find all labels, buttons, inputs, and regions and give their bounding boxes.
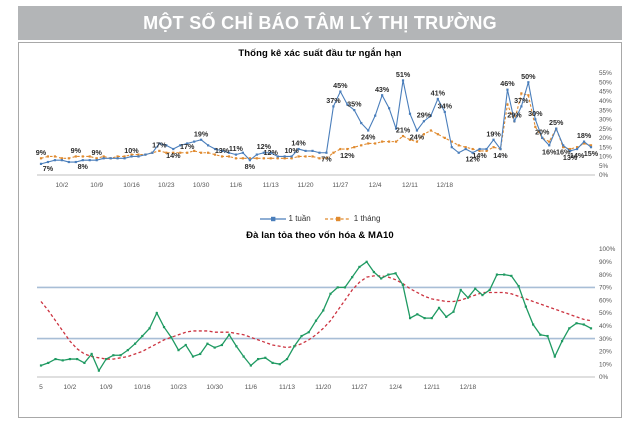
chart-1-series-1-tuan-marker <box>583 141 585 143</box>
chart-1-x-tick: 11/13 <box>263 182 279 189</box>
chart-2-series-breadth-marker <box>228 334 230 336</box>
chart-1-series-1-thang-marker <box>200 152 202 154</box>
legend-swatch-solid <box>260 215 286 223</box>
chart-1-series-1-tuan-marker <box>291 155 293 157</box>
chart-1-series-1-tuan-marker <box>89 159 91 161</box>
chart-1-data-label: 13% <box>215 146 230 155</box>
content-frame: Thống kê xác suất đầu tư ngắn hạn 0%5%10… <box>18 42 622 418</box>
chart-1-series-1-tuan-marker <box>144 154 146 156</box>
chart-1-series-1-thang-marker <box>472 148 474 150</box>
chart-2-series-breadth-marker <box>583 323 585 325</box>
chart-1-data-label: 8% <box>78 162 89 171</box>
chart-1-series-1-tuan-marker <box>256 154 258 156</box>
chart-2-series-breadth-marker <box>539 334 541 336</box>
chart-1-x-tick: 10/30 <box>193 182 210 189</box>
chart-1-data-label: 41% <box>431 88 446 97</box>
chart-1-x-tick: 12/11 <box>402 182 418 189</box>
chart-1-series-1-thang-marker <box>444 137 446 139</box>
chart-1-series-1-tuan-marker <box>284 155 286 157</box>
legend-item-1-thang: 1 tháng <box>325 214 381 223</box>
chart-2-series-breadth-marker <box>148 327 150 329</box>
legend-label-1-thang: 1 tháng <box>354 214 381 223</box>
chart-1-series-1-thang-marker <box>332 152 334 154</box>
chart-2-x-tick: 11/6 <box>245 384 258 391</box>
slide: MỘT SỐ CHỈ BÁO TÂM LÝ THỊ TRƯỜNG Thống k… <box>0 0 640 426</box>
chart-1-series-1-tuan-marker <box>388 107 390 109</box>
chart-2-y-tick: 70% <box>599 285 612 292</box>
chart-1-data-label: 14% <box>291 139 306 148</box>
chart-1-series-1-tuan-marker <box>513 120 515 122</box>
chart-1-series-1-tuan-marker <box>534 118 536 120</box>
chart-2-x-tick: 10/30 <box>206 384 223 391</box>
chart-1-series-1-thang-marker <box>186 152 188 154</box>
chart-1-x-tick: 10/9 <box>90 182 103 189</box>
chart-1-canvas: 0%5%10%15%20%25%30%35%40%45%50%55%10/210… <box>19 59 621 209</box>
chart-1-data-label: 12% <box>340 151 355 160</box>
chart-1-y-tick: 50% <box>599 79 612 86</box>
chart-1-series-1-tuan-marker <box>548 144 550 146</box>
chart-2-series-breadth-marker <box>192 355 194 357</box>
chart-1-data-label: 7% <box>43 164 54 173</box>
chart-1-series-1-tuan-marker <box>137 155 139 157</box>
chart-1-series-1-tuan-marker <box>520 105 522 107</box>
chart-1-series-1-tuan-marker <box>416 129 418 131</box>
legend-label-1-tuan: 1 tuần <box>289 214 311 223</box>
chart-2-y-tick: 50% <box>599 310 612 317</box>
chart-1-data-label: 11% <box>229 144 244 153</box>
chart-2-x-tick: 11/27 <box>351 384 367 391</box>
chart-1-data-label: 19% <box>194 129 209 138</box>
chart-2-series-breadth-marker <box>214 346 216 348</box>
chart-1-series-1-tuan-marker <box>54 159 56 161</box>
chart-1-y-tick: 25% <box>599 126 612 133</box>
chart-1-series-1-tuan-marker <box>47 161 49 163</box>
chart-2-series-breadth-marker <box>503 274 505 276</box>
chart-1-series-1-thang-marker <box>263 157 265 159</box>
chart-1-series-1-thang-marker <box>242 157 244 159</box>
legend-item-1-tuan: 1 tuần <box>260 214 311 223</box>
chart-1-series-1-tuan-marker <box>374 115 376 117</box>
chart-2-series-breadth-marker <box>438 307 440 309</box>
chart-2-series-breadth-marker <box>452 311 454 313</box>
chart-2-series-breadth-marker <box>47 362 49 364</box>
chart-2-series-breadth-marker <box>416 313 418 315</box>
chart-2-y-tick: 80% <box>599 272 612 279</box>
legend-swatch-dashed <box>325 215 351 223</box>
chart-1-y-tick: 45% <box>599 89 612 96</box>
chart-1-data-label: 9% <box>71 146 82 155</box>
chart-2-y-tick: 40% <box>599 323 612 330</box>
chart-1-series-1-thang-marker <box>221 155 223 157</box>
chart-2-series-breadth-marker <box>98 370 100 372</box>
chart-2-series-breadth-marker <box>590 327 592 329</box>
chart-2-series-ma10 <box>41 276 591 359</box>
chart-2-series-breadth-marker <box>177 349 179 351</box>
chart-1-series-1-tuan-marker <box>68 161 70 163</box>
chart-1-series-1-tuan-marker <box>451 146 453 148</box>
chart-1-series-1-tuan-marker <box>200 139 202 141</box>
chart-1-series-1-thang-marker <box>228 155 230 157</box>
chart-1-series-1-tuan-marker <box>40 163 42 165</box>
chart-2-series-breadth-marker <box>83 362 85 364</box>
chart-1-series-1-thang-marker <box>430 129 432 131</box>
chart-1-series-1-tuan-marker <box>130 155 132 157</box>
chart-2-series-breadth-marker <box>402 284 404 286</box>
chart-2-series-breadth-marker <box>489 289 491 291</box>
chart-1-series-1-tuan-marker <box>151 152 153 154</box>
chart-2-x-tick: 10/23 <box>170 384 187 391</box>
chart-2-series-breadth-marker <box>380 277 382 279</box>
chart-1-y-tick: 30% <box>599 117 612 124</box>
chart-1-series-1-thang-marker <box>388 141 390 143</box>
chart-1-y-tick: 5% <box>599 163 609 170</box>
chart-1-series-1-thang-marker <box>360 144 362 146</box>
chart-2-series-breadth-marker <box>337 286 339 288</box>
header-bar: MỘT SỐ CHỈ BÁO TÂM LÝ THỊ TRƯỜNG <box>18 6 622 40</box>
chart-2-x-tick: 12/18 <box>460 384 477 391</box>
chart-1-x-tick: 11/6 <box>230 182 243 189</box>
chart-1-data-label: 18% <box>577 131 592 140</box>
chart-2-series-breadth-marker <box>134 343 136 345</box>
chart-1-series-1-tuan-marker <box>304 150 306 152</box>
chart-2-y-tick: 30% <box>599 336 612 343</box>
chart-1-x-tick: 10/23 <box>158 182 175 189</box>
chart-1-series-1-tuan-marker <box>332 105 334 107</box>
chart-2-series-breadth-marker <box>568 327 570 329</box>
chart-1-series-1-tuan-marker <box>423 120 425 122</box>
chart-2-series-breadth-marker <box>467 297 469 299</box>
chart-1-series-1-thang-marker <box>395 141 397 143</box>
chart-1-y-tick: 0% <box>599 172 609 179</box>
chart-2-series-breadth-marker <box>235 345 237 347</box>
chart-1-x-tick: 12/4 <box>369 182 382 189</box>
chart-2-series-breadth-marker <box>127 349 129 351</box>
chart-1-title: Thống kê xác suất đầu tư ngắn hạn <box>19 45 621 59</box>
chart-1-series-1-thang-marker <box>40 157 42 159</box>
chart-2-y-tick: 20% <box>599 349 612 356</box>
chart-2-series-breadth-marker <box>105 358 107 360</box>
chart-2-x-tick: 11/13 <box>279 384 295 391</box>
chart-1-data-label: 21% <box>396 126 411 135</box>
chart-2-x-tick: 11/20 <box>315 384 331 391</box>
chart-2-series-breadth-marker <box>525 306 527 308</box>
chart-2-series-breadth-marker <box>496 274 498 276</box>
chart-2-series-breadth-marker <box>185 344 187 346</box>
chart-2-series-breadth-marker <box>322 309 324 311</box>
chart-1-data-label: 12% <box>264 148 279 157</box>
chart-2-series-breadth-marker <box>373 271 375 273</box>
chart-1-data-label: 46% <box>500 79 515 88</box>
chart-1-series-1-tuan-marker <box>381 94 383 96</box>
chart-2-series-breadth-marker <box>510 275 512 277</box>
chart-1-series-1-thang-marker <box>82 155 84 157</box>
chart-1-series-1-tuan-marker <box>527 81 529 83</box>
chart-1-data-label: 7% <box>321 155 332 164</box>
chart-1-series-1-tuan-marker <box>110 157 112 159</box>
chart-2-series-breadth-marker <box>156 312 158 314</box>
chart-2-series-breadth-marker <box>286 358 288 360</box>
chart-1-series-1-tuan-marker <box>562 144 564 146</box>
chart-1-series-1-tuan-marker <box>61 159 63 161</box>
chart-1-x-tick: 10/2 <box>55 182 68 189</box>
chart-1-series-1-tuan-marker <box>367 129 369 131</box>
chart-2-series-breadth-marker <box>561 340 563 342</box>
chart-1-data-label: 14% <box>570 151 585 160</box>
chart-1-series-1-thang-marker <box>520 92 522 94</box>
chart-1-data-label: 17% <box>180 142 195 151</box>
chart-1-series-1-tuan-marker <box>318 152 320 154</box>
chart-2-series-breadth-marker <box>264 357 266 359</box>
chart-1-series-1-tuan-marker <box>492 139 494 141</box>
chart-1-data-label: 14% <box>166 151 181 160</box>
chart-2-series-breadth-marker <box>76 358 78 360</box>
chart-1-data-label: 43% <box>375 85 390 94</box>
chart-1-series-1-thang-marker <box>458 144 460 146</box>
chart-1-series-1-tuan-marker <box>103 157 105 159</box>
chart-2-series-breadth-marker <box>199 353 201 355</box>
chart-2-series-breadth-marker <box>120 354 122 356</box>
chart-1-series-1-tuan-marker <box>207 144 209 146</box>
chart-1-series-1-tuan-marker <box>353 109 355 111</box>
chart-2-series-breadth-marker <box>69 358 71 360</box>
chart-1-series-1-thang-marker <box>235 157 237 159</box>
chart-2-series-breadth-marker <box>481 294 483 296</box>
chart-1-series-1-tuan-marker <box>555 128 557 130</box>
chart-1-series-1-thang-marker <box>381 141 383 143</box>
chart-1-y-tick: 20% <box>599 135 612 142</box>
chart-1-data-label: 35% <box>347 100 362 109</box>
chart-1-series-1-thang-marker <box>311 155 313 157</box>
chart-2-series-breadth-marker <box>358 266 360 268</box>
chart-1-series-1-tuan-marker <box>172 148 174 150</box>
chart-1-data-label: 14% <box>472 151 487 160</box>
chart-2-series-breadth-marker <box>163 326 165 328</box>
chart-2-series-breadth-marker <box>344 286 346 288</box>
chart-1-series-1-tuan-marker <box>541 137 543 139</box>
chart-1-series-1-thang-marker <box>367 142 369 144</box>
chart-2-series-breadth-marker <box>460 289 462 291</box>
chart-2-series-breadth-marker <box>423 317 425 319</box>
chart-1-x-tick: 11/20 <box>298 182 314 189</box>
chart-2-series-breadth-marker <box>250 364 252 366</box>
chart-2-series-breadth-marker <box>387 274 389 276</box>
chart-2-series-breadth-marker <box>271 362 273 364</box>
chart-2-series-breadth-marker <box>315 320 317 322</box>
chart-1-data-label: 19% <box>486 129 501 138</box>
chart-2-series-breadth-marker <box>366 261 368 263</box>
chart-1-data-label: 10% <box>124 146 139 155</box>
chart-2-series-breadth-marker <box>141 335 143 337</box>
chart-1-data-label: 9% <box>92 148 103 157</box>
chart-1-data-label: 8% <box>245 162 256 171</box>
chart-2-y-tick: 10% <box>599 361 612 368</box>
chart-1-series-1-thang-marker <box>207 152 209 154</box>
chart-2-x-tick: 5 <box>39 384 43 391</box>
chart-2-series-breadth-marker <box>221 344 223 346</box>
chart-1-series-1-thang-marker <box>506 103 508 105</box>
chart-2-series-breadth-marker <box>170 336 172 338</box>
chart-1-data-label: 24% <box>410 132 425 141</box>
chart-1-series-1-thang-marker <box>75 155 77 157</box>
chart-1-series-1-tuan-marker <box>402 79 404 81</box>
chart-1-series-1-thang-marker <box>402 135 404 137</box>
chart-1-series-1-thang-marker <box>374 142 376 144</box>
chart-1-data-label: 9% <box>36 148 47 157</box>
chart-1-series-1-tuan-marker <box>235 154 237 156</box>
chart-2-x-tick: 12/11 <box>424 384 440 391</box>
chart-2-series-breadth-marker <box>329 293 331 295</box>
chart-1-series-1-thang-marker <box>68 157 70 159</box>
chart-2-y-tick: 0% <box>599 374 609 381</box>
chart-2-series-breadth-marker <box>554 355 556 357</box>
chart-1-series-1-tuan-marker <box>409 113 411 115</box>
chart-1-series-1-thang-marker <box>339 148 341 150</box>
chart-1-data-label: 20% <box>535 127 550 136</box>
chart-2-series-breadth-marker <box>532 323 534 325</box>
chart-2-series-breadth-marker <box>575 322 577 324</box>
chart-2-series-breadth-marker <box>431 317 433 319</box>
chart-1-series-1-thang-marker <box>270 157 272 159</box>
chart-1-series-1-tuan-marker <box>339 90 341 92</box>
chart-1-series-1-tuan-marker <box>506 89 508 91</box>
chart-1-legend: 1 tuần 1 tháng <box>19 214 621 223</box>
chart-1-series-1-thang-marker <box>304 155 306 157</box>
chart-2-y-tick: 60% <box>599 297 612 304</box>
chart-2-series-breadth-marker <box>308 331 310 333</box>
chart-2-canvas: 0%10%20%30%40%50%60%70%80%90%100%510/210… <box>19 241 621 411</box>
chart-2-x-tick: 10/9 <box>100 384 113 391</box>
chart-1-x-tick: 10/16 <box>123 182 140 189</box>
chart-2-title: Đà lan tỏa theo vốn hóa & MA10 <box>19 227 621 241</box>
chart-2-series-breadth-marker <box>62 359 64 361</box>
chart-1-series-1-tuan-marker <box>465 148 467 150</box>
chart-2-series-breadth-marker <box>395 272 397 274</box>
chart-1-data-label: 51% <box>396 70 411 79</box>
chart-2-x-tick: 12/4 <box>389 384 402 391</box>
chart-1-data-label: 29% <box>417 111 432 120</box>
chart-2-series-breadth-marker <box>518 285 520 287</box>
chart-1-y-tick: 15% <box>599 144 612 151</box>
chart-1-data-label: 17% <box>152 140 167 149</box>
chart-2-x-tick: 10/2 <box>64 384 77 391</box>
chart-1-series-1-tuan-marker <box>96 159 98 161</box>
chart-2-y-tick: 90% <box>599 259 612 266</box>
chart-1-series-1-tuan-marker <box>499 148 501 150</box>
chart-2-series-breadth-marker <box>445 316 447 318</box>
chart-2-series-breadth-marker <box>293 345 295 347</box>
chart-1-y-tick: 10% <box>599 154 612 161</box>
chart-1-series-1-thang-marker <box>54 155 56 157</box>
chart-1-x-tick: 12/18 <box>437 182 454 189</box>
chart-1-data-label: 29% <box>507 111 522 120</box>
chart-1-series-1-thang-marker <box>47 155 49 157</box>
chart-1-data-label: 37% <box>514 96 529 105</box>
chart-2-series-breadth-marker <box>474 288 476 290</box>
chart-1-series-1-thang-marker <box>353 146 355 148</box>
chart-1-y-tick: 40% <box>599 98 612 105</box>
chart-1-series-1-tuan-marker <box>82 159 84 161</box>
chart-1-data-label: 50% <box>521 72 536 81</box>
chart-2-series-breadth-marker <box>300 335 302 337</box>
chart-1-data-label: 16% <box>542 147 557 156</box>
chart-2-series-breadth-marker <box>257 358 259 360</box>
chart-1-series-1-thang-marker <box>158 150 160 152</box>
chart-2-y-tick: 100% <box>599 246 616 253</box>
chart-2-series-breadth-marker <box>91 353 93 355</box>
chart-1-data-label: 25% <box>549 118 564 127</box>
chart-1-series-1-tuan-marker <box>123 157 125 159</box>
chart-1-series-1-tuan-marker <box>311 150 313 152</box>
chart-1-data-label: 30% <box>528 109 543 118</box>
chart-1-series-1-tuan-marker <box>458 152 460 154</box>
chart-2-x-tick: 10/16 <box>134 384 151 391</box>
chart-1-series-1-tuan-marker <box>360 122 362 124</box>
chart-1-series-1-tuan-marker <box>590 146 592 148</box>
chart-panel-probability: Thống kê xác suất đầu tư ngắn hạn 0%5%10… <box>19 45 621 225</box>
chart-1-data-label: 45% <box>333 81 348 90</box>
chart-1-data-label: 34% <box>438 101 453 110</box>
chart-1-data-label: 24% <box>361 132 376 141</box>
chart-2-series-breadth-marker <box>243 355 245 357</box>
chart-2-series-breadth-marker <box>54 358 56 360</box>
chart-1-series-1-tuan-marker <box>116 157 118 159</box>
chart-2-series-breadth-marker <box>546 335 548 337</box>
chart-1-y-tick: 55% <box>599 70 612 77</box>
chart-1-x-tick: 11/27 <box>332 182 348 189</box>
chart-1-series-1-tuan-marker <box>576 148 578 150</box>
chart-2-series-breadth-marker <box>351 276 353 278</box>
chart-panel-breadth: Đà lan tỏa theo vốn hóa & MA10 0%10%20%3… <box>19 227 621 417</box>
chart-1-series-1-thang-marker <box>437 133 439 135</box>
chart-1-series-1-thang-marker <box>89 155 91 157</box>
chart-1-data-label: 14% <box>493 151 508 160</box>
chart-1-series-1-tuan-marker <box>437 98 439 100</box>
chart-1-series-1-thang-marker <box>256 157 258 159</box>
chart-2-series-breadth-marker <box>40 364 42 366</box>
chart-1-series-1-thang-marker <box>492 146 494 148</box>
chart-2-series-breadth-marker <box>279 363 281 365</box>
chart-1-series-1-tuan-marker <box>479 148 481 150</box>
chart-1-series-1-tuan-marker <box>325 152 327 154</box>
page-title: MỘT SỐ CHỈ BÁO TÂM LÝ THỊ TRƯỜNG <box>143 13 497 34</box>
chart-2-series-breadth-marker <box>409 317 411 319</box>
chart-1-series-1-tuan-marker <box>249 159 251 161</box>
chart-1-data-label: 15% <box>584 149 599 158</box>
chart-1-series-1-tuan-marker <box>444 111 446 113</box>
chart-1-series-1-thang-marker <box>297 155 299 157</box>
chart-1-series-1-thang-marker <box>346 148 348 150</box>
chart-1-data-label: 37% <box>326 96 341 105</box>
chart-2-series-breadth-marker <box>112 354 114 356</box>
chart-1-y-tick: 35% <box>599 107 612 114</box>
chart-1-series-1-tuan-marker <box>485 148 487 150</box>
chart-2-series-breadth-marker <box>206 343 208 345</box>
chart-2-series-breadth <box>41 262 591 371</box>
